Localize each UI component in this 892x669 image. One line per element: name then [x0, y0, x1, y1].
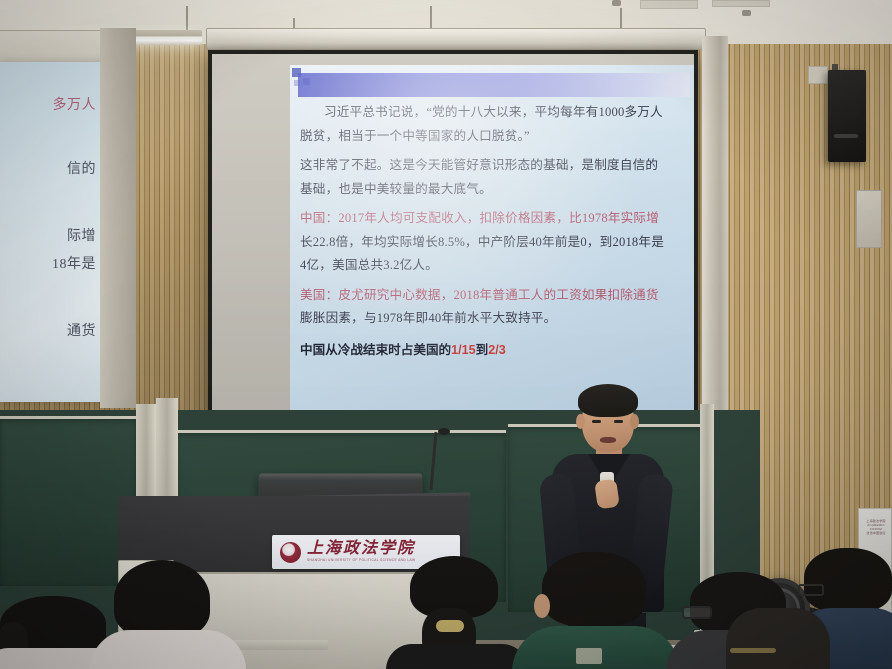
header-block-2: [303, 78, 310, 85]
audience-member-dark-right: [726, 596, 822, 669]
slide-line-9: 膨胀因素，与1978年即40年前水平大致持平。: [300, 307, 692, 331]
wall-plate: [808, 66, 828, 84]
banner-text: 上海政法学院ACADEMIC FORUM法治中国讲坛: [862, 519, 890, 535]
wall-rail-right: [702, 36, 728, 466]
ceiling-mount-1: [742, 10, 751, 16]
university-seal-icon: [280, 542, 301, 563]
slide-line-10-conclusion: 中国从冷战结束时占美国的1/15到2/3: [300, 339, 692, 363]
glasses-icon: [682, 606, 712, 619]
lecture-hall-photo: 多万人 信的 际增 18年是 通货 习近平总书记说，“党的十八大以来，平均每年有…: [0, 0, 892, 669]
microphone-icon: [438, 428, 450, 435]
audience-jacket-dark: [726, 608, 830, 669]
audience-member-center-left: [394, 556, 518, 669]
ceiling-mount-2: [612, 0, 621, 6]
wall-panel-right: [856, 190, 882, 248]
hair-tie: [436, 620, 464, 632]
slide-line-3: 这非常了不起。这是今天能管好意识形态的基础，是制度自信的: [300, 154, 692, 178]
conclusion-ratio-1: 1/15: [451, 343, 476, 357]
jacket-emblem: [576, 648, 602, 664]
left-screen-line-2: 际增: [67, 225, 96, 245]
audience-shoulders: [386, 644, 528, 669]
audience-hair: [542, 552, 646, 626]
speaker-grille: [834, 134, 858, 138]
slide-line-2: 脱贫，相当于一个中等国家的人口脱贫。”: [300, 125, 692, 149]
slide-text-body: 习近平总书记说，“党的十八大以来，平均每年有1000多万人 脱贫，相当于一个中等…: [300, 101, 692, 413]
slide-line-1: 习近平总书记说，“党的十八大以来，平均每年有1000多万人: [300, 101, 692, 125]
header-block-3: [294, 80, 300, 86]
audience-ear: [534, 594, 550, 618]
audience-member-center-green: [524, 552, 666, 669]
left-screen-line-3: 18年是: [52, 253, 96, 273]
audience-member-left: [100, 560, 230, 669]
presenter-hair: [578, 384, 638, 417]
slide-line-5-china: 中国：2017年人均可支配收入，扣除价格因素，比1978年实际增: [300, 207, 692, 231]
slide-line-6: 长22.8倍，年均实际增长8.5%，中产阶层40年前是0，到2018年是: [300, 231, 692, 255]
left-screen-line-1: 信的: [67, 158, 96, 178]
left-screen-line-4: 通货: [67, 320, 96, 340]
presenter-eye-right: [614, 420, 623, 423]
presenter-eye-left: [592, 420, 601, 423]
audience-shoulders: [90, 630, 246, 669]
wall-pillar-left: [100, 28, 136, 408]
presenter-ear-left: [576, 414, 585, 429]
light-cable-1: [186, 6, 188, 32]
projection-screen-housing: [206, 28, 706, 50]
audience-hair: [114, 560, 210, 638]
slide-line-8-usa: 美国：皮尤研究中心数据，2018年普通工人的工资如果扣除通货: [300, 284, 692, 308]
university-name-cn: 上海政法学院: [307, 541, 415, 557]
projected-slide: 习近平总书记说，“党的十八大以来，平均每年有1000多万人 脱贫，相当于一个中等…: [290, 65, 694, 417]
slide-line-4: 基础，也是中美较量的最大底气。: [300, 178, 692, 202]
glasses-icon: [798, 584, 824, 596]
slide-line-7: 4亿，美国总共3.2亿人。: [300, 254, 692, 278]
slide-header-bar: [298, 73, 690, 97]
projection-screen-surface: 习近平总书记说，“党的十八大以来，平均每年有1000多万人 脱贫，相当于一个中等…: [212, 54, 694, 424]
projection-screen-frame: 习近平总书记说，“党的十八大以来，平均每年有1000多万人 脱贫，相当于一个中等…: [208, 50, 698, 428]
conclusion-ratio-2: 2/3: [488, 343, 506, 357]
jacket-stripe: [730, 648, 776, 653]
presenter-hand-upper: [594, 479, 620, 510]
left-screen-line-0: 多万人: [53, 94, 97, 114]
left-projection-screen: 多万人 信的 际增 18年是 通货: [0, 62, 102, 402]
wall-speaker-icon: [828, 70, 866, 162]
header-block-1: [292, 68, 301, 77]
slide-header-decor: [292, 68, 336, 90]
conclusion-prefix: 中国从冷战结束时占美国的: [300, 343, 451, 357]
presenter-mouth: [600, 437, 616, 443]
ceiling-vent-1: [640, 0, 698, 9]
presenter-ear-right: [630, 414, 639, 429]
ceiling-vent-2: [712, 0, 770, 7]
conclusion-mid: 到: [476, 343, 489, 357]
